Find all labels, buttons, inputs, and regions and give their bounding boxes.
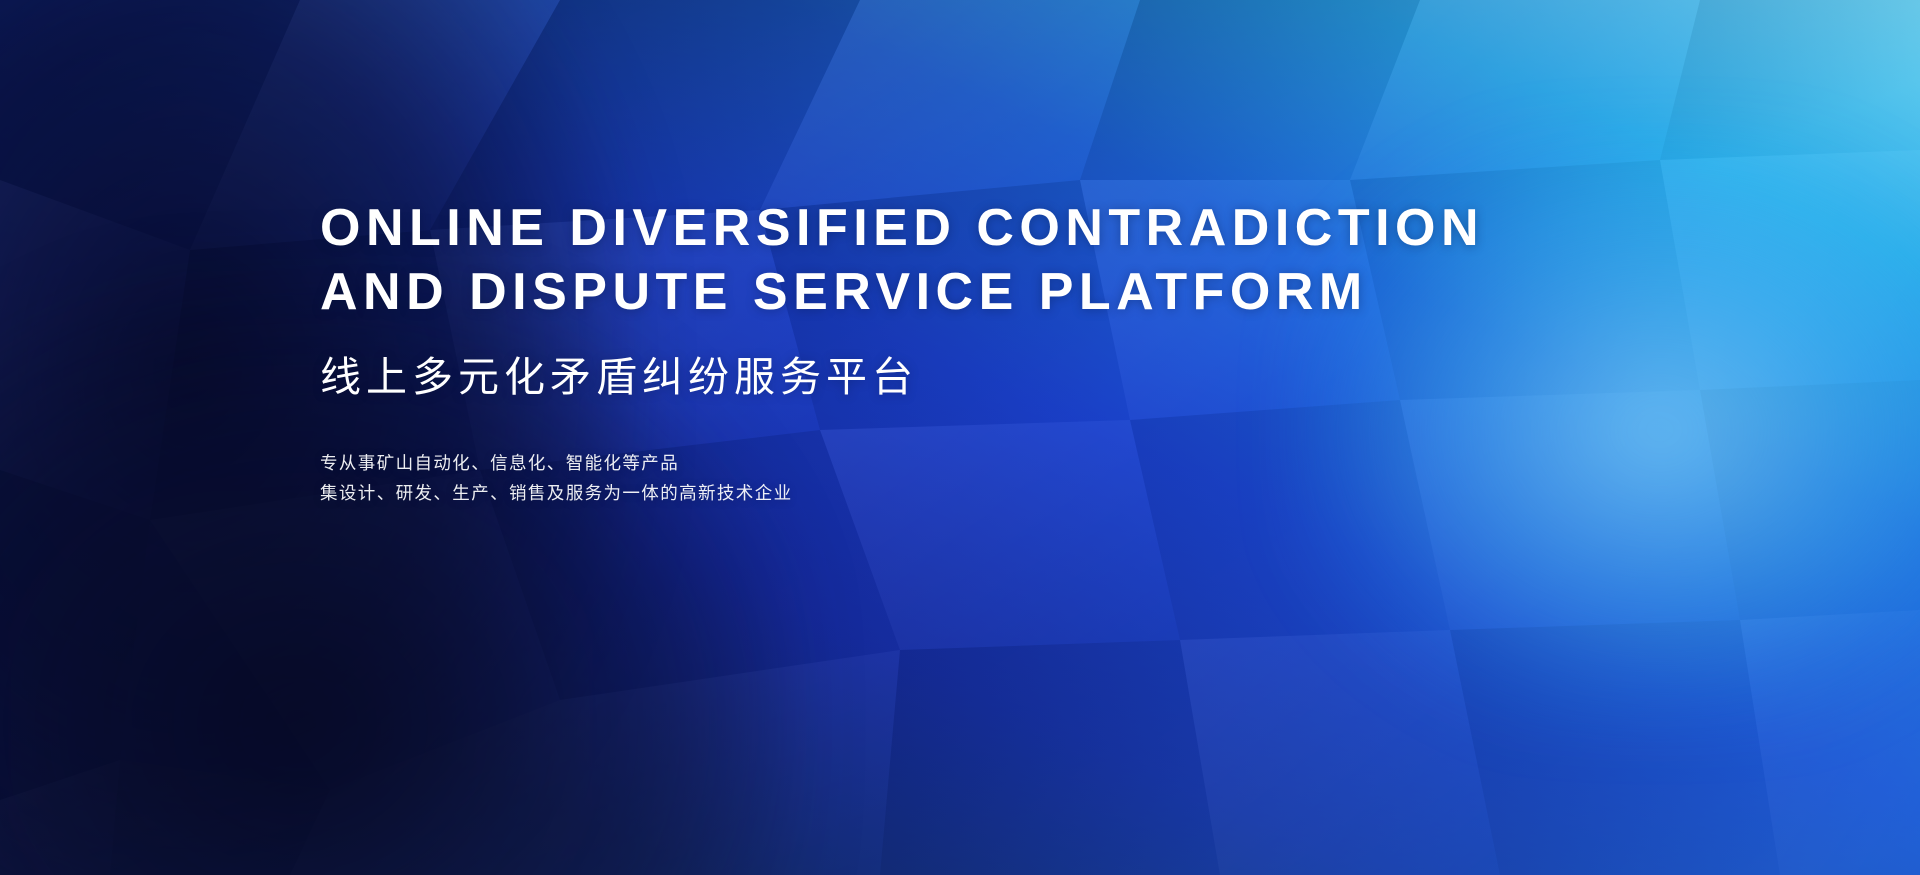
- headline-english-line-1: ONLINE DIVERSIFIED CONTRADICTION: [320, 196, 1670, 260]
- subtitle-list: 专从事矿山自动化、信息化、智能化等产品 集设计、研发、生产、销售及服务为一体的高…: [320, 448, 1670, 508]
- subtitle-line: 专从事矿山自动化、信息化、智能化等产品: [320, 448, 1670, 478]
- hero-copy-block: ONLINE DIVERSIFIED CONTRADICTION AND DIS…: [320, 196, 1670, 508]
- hero-banner: ONLINE DIVERSIFIED CONTRADICTION AND DIS…: [0, 0, 1920, 875]
- headline-english-line-2: AND DISPUTE SERVICE PLATFORM: [320, 260, 1670, 324]
- headline-chinese: 线上多元化矛盾纠纷服务平台: [320, 350, 1670, 404]
- subtitle-line: 集设计、研发、生产、销售及服务为一体的高新技术企业: [320, 478, 1670, 508]
